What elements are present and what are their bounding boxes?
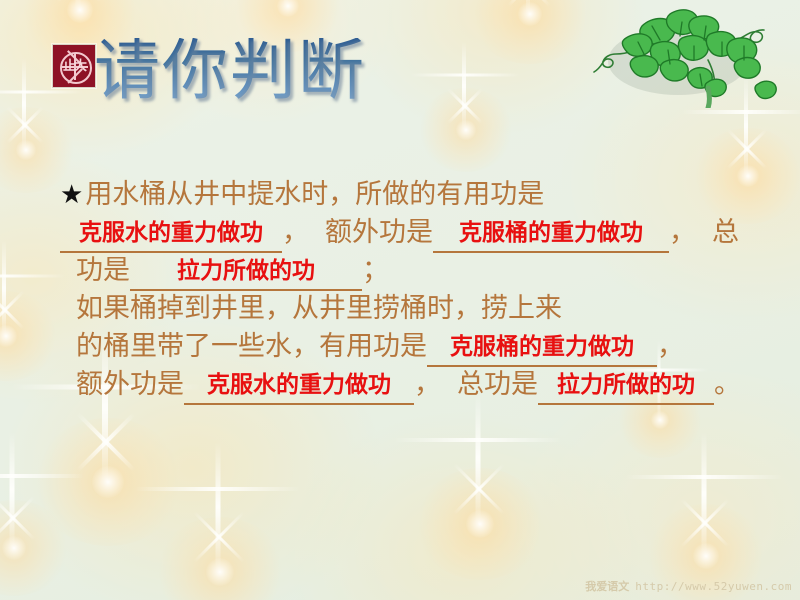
- line-text: ；: [362, 252, 389, 290]
- question-body: ★ 用水桶从井中提水时，所做的有用功是 克服水的重力做功 ， 额外功是 克服桶的…: [60, 176, 800, 404]
- watermark: 我爱语文 http://www.52yuwen.com: [585, 578, 792, 594]
- line-text: 额外功是: [76, 366, 184, 404]
- answer-blank[interactable]: 克服桶的重力做功: [433, 218, 669, 253]
- answer-text: 拉力所做的功: [557, 372, 695, 398]
- line-text: 总: [712, 214, 739, 252]
- page-title: 请你判断: [94, 38, 366, 104]
- answer-blank[interactable]: 克服水的重力做功: [184, 370, 414, 405]
- line-text: ，: [282, 214, 309, 252]
- line-text: 如果桶掉到井里，从井里捞桶时，捞上来: [76, 290, 562, 328]
- text-line: 的桶里带了一些水，有用功是 克服桶的重力做功 ，: [60, 328, 800, 366]
- watermark-site-name: 我爱语文: [585, 578, 629, 594]
- seal-stamp-icon: 止大: [52, 44, 96, 88]
- answer-blank[interactable]: 克服桶的重力做功: [427, 332, 657, 367]
- text-line: 克服水的重力做功 ， 额外功是 克服桶的重力做功 ， 总: [60, 214, 800, 252]
- answer-text: 拉力所做的功: [177, 258, 315, 284]
- text-line: 功是 拉力所做的功 ；: [60, 252, 800, 290]
- answer-text: 克服桶的重力做功: [450, 334, 634, 360]
- answer-text: 克服水的重力做功: [207, 372, 391, 398]
- answer-text: 克服桶的重力做功: [459, 220, 643, 246]
- line-text: 总功是: [457, 366, 538, 404]
- answer-blank[interactable]: 拉力所做的功: [130, 256, 362, 291]
- answer-blank[interactable]: 克服水的重力做功: [60, 218, 282, 253]
- vine-decoration: [582, 0, 794, 108]
- line-text: 用水桶从井中提水时，所做的有用功是: [85, 176, 544, 214]
- text-line: 额外功是 克服水的重力做功 ， 总功是 拉力所做的功 。: [60, 366, 800, 404]
- watermark-url: http://www.52yuwen.com: [635, 580, 792, 593]
- seal-label: 止大: [53, 45, 95, 87]
- text-line: 如果桶掉到井里，从井里捞桶时，捞上来: [60, 290, 800, 328]
- line-text: 。: [714, 366, 741, 404]
- answer-text: 克服水的重力做功: [79, 220, 263, 246]
- star-bullet-icon: ★: [60, 176, 85, 214]
- line-text: ，: [414, 366, 441, 404]
- text-line: ★ 用水桶从井中提水时，所做的有用功是: [60, 176, 800, 214]
- line-text: 的桶里带了一些水，有用功是: [76, 328, 427, 366]
- slide-canvas: 止大 请你判断 请你判断 ★ 用水桶从井中提水时，所做的有用功是 克服水的重力做…: [0, 0, 800, 600]
- line-text: 功是: [76, 252, 130, 290]
- line-text: ，: [669, 214, 696, 252]
- answer-blank[interactable]: 拉力所做的功: [538, 370, 714, 405]
- line-text: ，: [657, 328, 684, 366]
- line-text: 额外功是: [325, 214, 433, 252]
